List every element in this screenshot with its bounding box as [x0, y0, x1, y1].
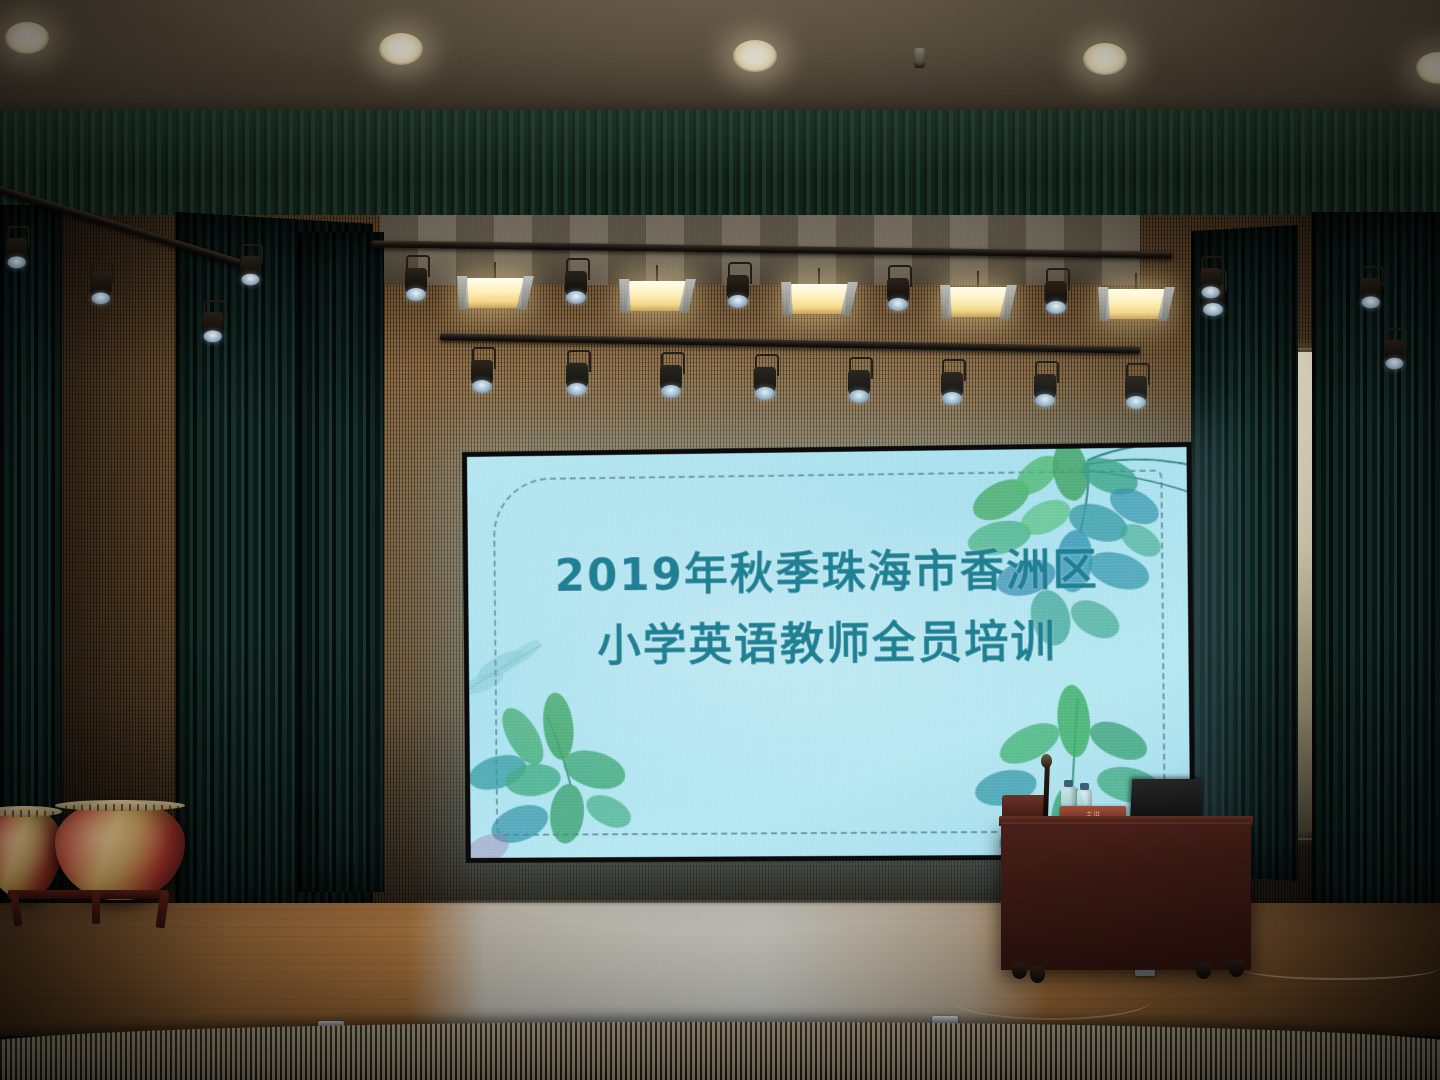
parcan-lens [942, 392, 962, 405]
drum-stand-leg-2 [92, 892, 100, 924]
slide-title-block: 2019年秋季珠海市香洲区 小学英语教师全员培训 [468, 534, 1189, 684]
curtain-left-leg [298, 232, 384, 892]
parcan-lens [204, 330, 222, 342]
barn-door-left [940, 285, 952, 319]
podium-caster-1 [1012, 962, 1027, 979]
ceiling-light-wash [0, 0, 1440, 120]
stage-cable-1 [952, 980, 1152, 1020]
stage-cable-2 [1240, 956, 1440, 980]
parcan-lens [888, 298, 908, 311]
curtain-right-inner [1191, 225, 1298, 881]
podium-caster-4 [1229, 960, 1244, 977]
floodlight-panel-4 [948, 287, 1007, 317]
smoke-detector-icon [914, 48, 925, 68]
parcan-lens [1385, 358, 1403, 370]
parcan-lens [849, 390, 869, 403]
slide-title-line-2: 小学英语教师全员培训 [468, 605, 1188, 683]
curtain-shade [1191, 225, 1298, 881]
parcan-lens [1203, 303, 1223, 316]
parcan-lens [661, 385, 681, 398]
parcan-lens [8, 256, 26, 268]
downlight-4 [1083, 43, 1127, 75]
parcan-lens [1035, 394, 1055, 407]
flood-hanger-5 [1135, 273, 1137, 289]
valance-sheen [0, 110, 1440, 228]
flood-hanger-4 [977, 271, 979, 287]
curtain-shade [298, 232, 384, 892]
flood-hanger-2 [656, 265, 658, 281]
bottle-cap [1064, 780, 1073, 787]
parcan-lens [472, 380, 492, 393]
parcan-lens [728, 295, 748, 308]
parcan-lens [1046, 301, 1066, 314]
downlight-1 [5, 22, 49, 54]
microphone-icon [1041, 754, 1052, 768]
parcan-lens [406, 288, 426, 301]
flood-hanger-3 [818, 268, 820, 284]
auditorium-scene: 2019年秋季珠海市香洲区 小学英语教师全员培训 主讲 [0, 0, 1440, 1080]
drum-stand-rail [8, 890, 168, 899]
parcan-lens [1362, 296, 1380, 308]
curtain-left-outer [0, 205, 62, 905]
parcan-lens [241, 274, 259, 286]
podium-caster-2 [1030, 966, 1045, 983]
parcan-lens [567, 383, 587, 396]
barn-door-left [781, 282, 793, 316]
barn-door-left [619, 279, 631, 313]
podium-caster-3 [1196, 962, 1211, 979]
flood-hanger-1 [494, 262, 496, 278]
parcan-lens [755, 387, 775, 400]
speaker-podium[interactable] [1001, 822, 1251, 970]
curtain-shade [1312, 212, 1440, 912]
parcan-lens [566, 291, 586, 304]
downlight-3 [733, 40, 777, 72]
presenter-laptop[interactable] [1130, 779, 1204, 821]
parcan-lens [1202, 286, 1220, 298]
stage-front-edge [0, 1022, 1440, 1080]
floodlight-panel-1 [465, 278, 524, 308]
barn-door-left [457, 276, 469, 310]
floodlight-panel-2 [627, 281, 686, 311]
stage-valance-curtain [0, 110, 1440, 228]
curtain-shade [0, 205, 62, 905]
parcan-lens [1126, 396, 1146, 409]
curtain-right-outer [1312, 212, 1440, 912]
downlight-2 [379, 33, 423, 65]
barn-door-left [1098, 287, 1110, 321]
drum-studs [57, 804, 183, 811]
slide-title-line-1: 2019年秋季珠海市香洲区 [468, 534, 1188, 613]
parcan-lens [92, 292, 110, 304]
floodlight-panel-3 [789, 284, 848, 314]
floodlight-panel-5 [1106, 289, 1165, 319]
bottle-cap [1080, 783, 1089, 790]
